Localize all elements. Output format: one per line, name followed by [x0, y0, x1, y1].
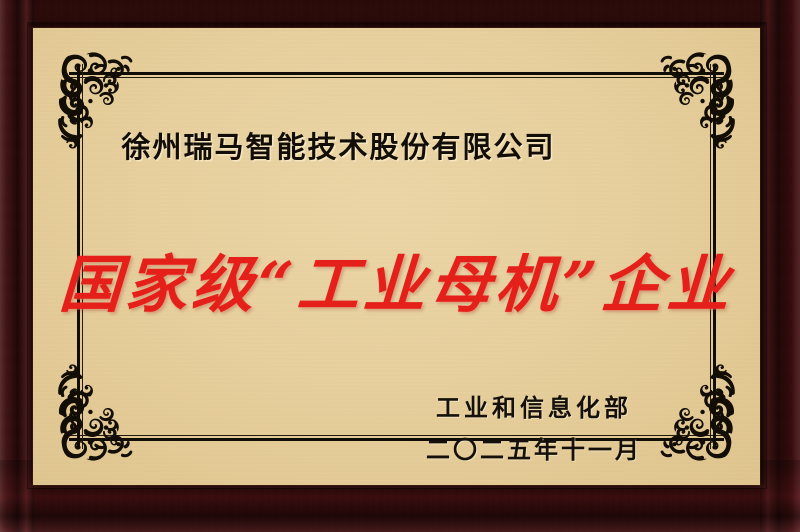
frame-gloss-left [0, 0, 34, 532]
company-name: 徐州瑞马智能技术股份有限公司 [33, 124, 760, 166]
frame-gloss-right [760, 0, 800, 532]
issue-date: 二〇二五年十一月 [426, 430, 642, 465]
issuing-authority: 工业和信息化部 [426, 388, 642, 423]
award-title: 国家级“工业母机”企业 [31, 234, 763, 324]
plaque-panel: 徐州瑞马智能技术股份有限公司 国家级“工业母机”企业 工业和信息化部 二〇二五年… [33, 28, 760, 485]
corner-flourish-icon [53, 361, 157, 465]
corner-flourish-icon [636, 361, 740, 465]
signature-block: 工业和信息化部 二〇二五年十一月 [426, 388, 642, 465]
border-line-top-thick [69, 72, 724, 75]
border-line-top-thin [69, 77, 724, 78]
award-plaque: 徐州瑞马智能技术股份有限公司 国家级“工业母机”企业 工业和信息化部 二〇二五年… [0, 0, 800, 532]
